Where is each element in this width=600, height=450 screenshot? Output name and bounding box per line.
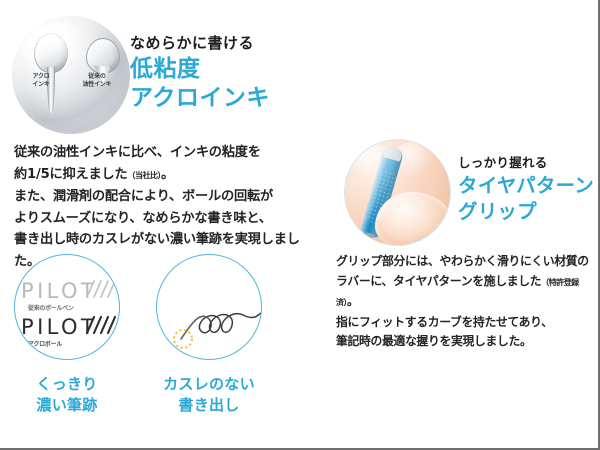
- sample-caption-left-line1: くっきり: [2, 374, 132, 395]
- ink-body-text: 従来の油性インキに比べ、インキの粘度を 約1/5に抑えました（当社比）。 また、…: [14, 142, 324, 272]
- grip-title-line1: タイヤパターン: [458, 174, 594, 197]
- ink-body-footnote: （当社比）: [127, 171, 161, 180]
- grip-body-line-1: グリップ部分には、やわらかく滑りにくい材質の: [336, 252, 594, 272]
- sample-caption-left-line2: 濃い筆跡: [2, 395, 132, 416]
- ink-title-line2: アクロインキ: [130, 85, 270, 111]
- ink-title-line1: 低粘度: [130, 56, 270, 82]
- ink-body-line-3: また、潤滑剤の配合により、ボールの回転が: [14, 186, 324, 208]
- ink-viscosity-sphere: アクロ インキ 従来の 油性インキ: [12, 16, 130, 134]
- sample-strokes-conventional-icon: [83, 277, 117, 303]
- grip-body-line-4: 筆記時の最適な握りを実現しました。: [336, 332, 594, 352]
- grip-body-line-2-end: 。: [347, 294, 359, 308]
- sample-label-acroball: アクロボール: [28, 339, 62, 348]
- product-feature-page: アクロ インキ 従来の 油性インキ なめらかに書ける 低粘度 アクロインキ 従来…: [0, 0, 600, 450]
- sample-caption-left: くっきり 濃い筆跡: [2, 374, 132, 416]
- start-point-highlight-icon: [171, 327, 195, 351]
- ink-kicker: なめらかに書ける: [130, 32, 270, 53]
- conventional-ink-drop-label: 従来の 油性インキ: [74, 73, 120, 88]
- grip-kicker: しっかり握れる: [458, 152, 594, 171]
- ink-body-line-4: よりスムーズになり、なめらかな書き味と、: [14, 208, 324, 230]
- grip-title-line2: グリップ: [458, 200, 594, 223]
- grip-body-line-2: ラバーに、タイヤパターンを施しました（特許登録済）。: [336, 272, 594, 313]
- sphere-graphic: アクロ インキ 従来の 油性インキ: [12, 16, 130, 134]
- handwriting-sample-circle-left: PILOT 従来のボールペン PILOT アクロボール: [14, 254, 120, 360]
- grip-body-text: グリップ部分には、やわらかく滑りにくい材質の ラバーに、タイヤパターンを施しまし…: [336, 252, 594, 352]
- acro-ink-drop: [34, 33, 70, 111]
- grip-body-line-2-main: ラバーに、タイヤパターンを施しました: [336, 274, 541, 288]
- ink-body-line-2-end: 。: [161, 167, 174, 182]
- sample-caption-right-line1: カスレのない: [144, 374, 274, 395]
- acro-ink-drop-label: アクロ インキ: [24, 73, 58, 88]
- sample-label-conventional: 従来のボールペン: [28, 303, 74, 312]
- grip-photo-circle: [345, 140, 450, 245]
- ink-body-line-1: 従来の油性インキに比べ、インキの粘度を: [14, 142, 324, 164]
- grip-body-line-3: 指にフィットするカーブを持たせてあり、: [336, 313, 594, 333]
- grip-heading-block: しっかり握れる タイヤパターン グリップ: [458, 152, 594, 223]
- sample-strokes-acroball-icon: [83, 313, 117, 339]
- ink-body-line-2-main: 約1/5に抑えました: [14, 167, 127, 182]
- ink-body-line-2: 約1/5に抑えました（当社比）。: [14, 164, 324, 187]
- sample-caption-right: カスレのない 書き出し: [144, 374, 274, 416]
- hand-holding-pen-photo: [345, 140, 450, 245]
- ink-heading-block: なめらかに書ける 低粘度 アクロインキ: [130, 32, 270, 111]
- sample-caption-right-line2: 書き出し: [144, 395, 274, 416]
- handwriting-sample-circle-right: [156, 254, 262, 360]
